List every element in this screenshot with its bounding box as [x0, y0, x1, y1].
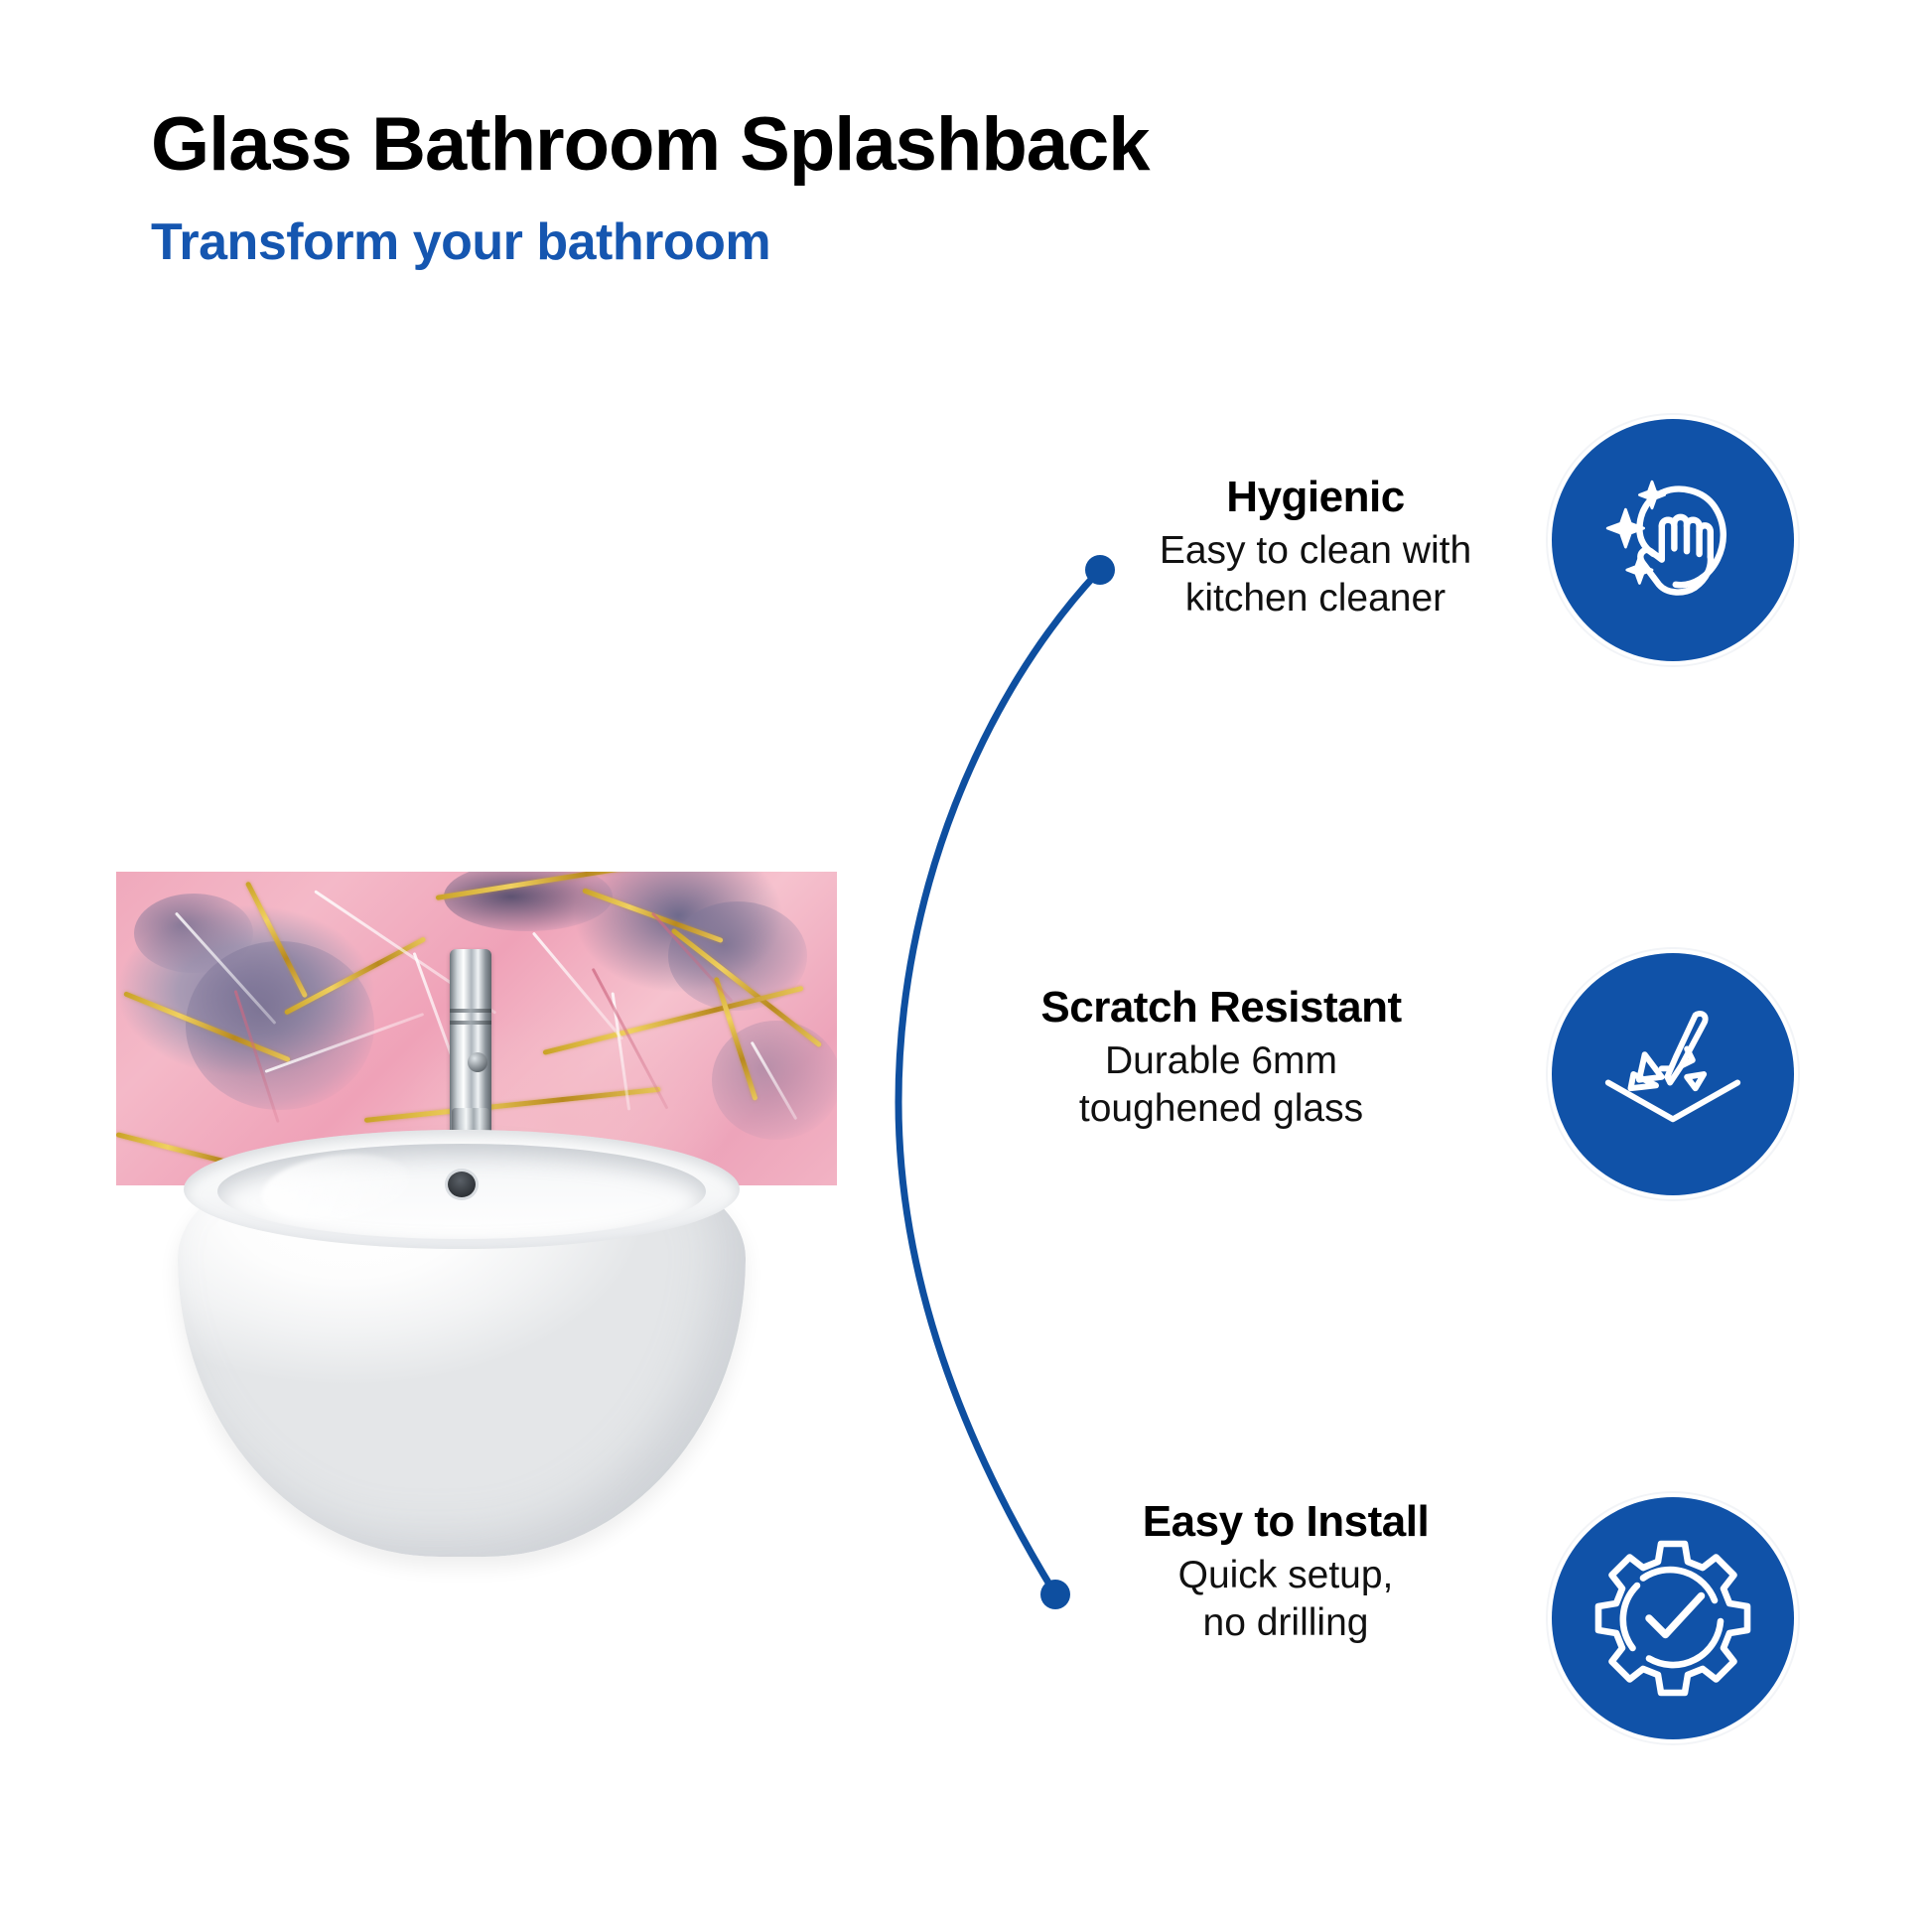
white-vein — [532, 932, 623, 1040]
feature-easy-to-install-desc-line2: no drilling — [1082, 1599, 1489, 1647]
feature-scratch-resistant-title: Scratch Resistant — [1003, 983, 1440, 1032]
tap-band — [450, 1009, 491, 1013]
feature-hygienic-desc-line2: kitchen cleaner — [1122, 575, 1509, 622]
tap-band — [450, 1021, 491, 1025]
feature-easy-to-install-text: Easy to Install Quick setup, no drilling — [1082, 1497, 1489, 1646]
feature-scratch-resistant-desc-line2: toughened glass — [1003, 1085, 1440, 1133]
ceramic-basin — [178, 1130, 746, 1400]
feature-easy-to-install-desc-line1: Quick setup, — [1082, 1552, 1489, 1599]
feature-hygienic-text: Hygienic Easy to clean with kitchen clea… — [1122, 473, 1509, 621]
feature-hygienic-description: Easy to clean with kitchen cleaner — [1122, 527, 1509, 621]
infographic-canvas: Glass Bathroom Splashback Transform your… — [0, 0, 1932, 1932]
product-image — [116, 862, 1069, 1398]
page-subtitle: Transform your bathroom — [151, 216, 770, 268]
connector-dot-top — [1085, 555, 1115, 585]
feature-easy-to-install-title: Easy to Install — [1082, 1497, 1489, 1546]
wiping-hand-sparkle-icon — [1552, 419, 1794, 661]
marble-blotch — [186, 941, 374, 1110]
gold-vein — [364, 1087, 661, 1123]
feature-easy-to-install-description: Quick setup, no drilling — [1082, 1552, 1489, 1646]
basin-overflow-hole — [448, 1172, 476, 1197]
feature-hygienic-desc-line1: Easy to clean with — [1122, 527, 1509, 575]
page-title: Glass Bathroom Splashback — [151, 107, 1150, 183]
tap-lever — [468, 1052, 487, 1072]
feature-scratch-resistant-desc-line1: Durable 6mm — [1003, 1037, 1440, 1085]
feature-scratch-resistant-description: Durable 6mm toughened glass — [1003, 1037, 1440, 1132]
connector-dot-bottom — [1040, 1580, 1070, 1609]
feature-hygienic-title: Hygienic — [1122, 473, 1509, 521]
knife-scratch-surface-icon — [1552, 953, 1794, 1195]
gear-checkmark-icon — [1552, 1497, 1794, 1739]
feature-scratch-resistant-text: Scratch Resistant Durable 6mm toughened … — [1003, 983, 1440, 1132]
